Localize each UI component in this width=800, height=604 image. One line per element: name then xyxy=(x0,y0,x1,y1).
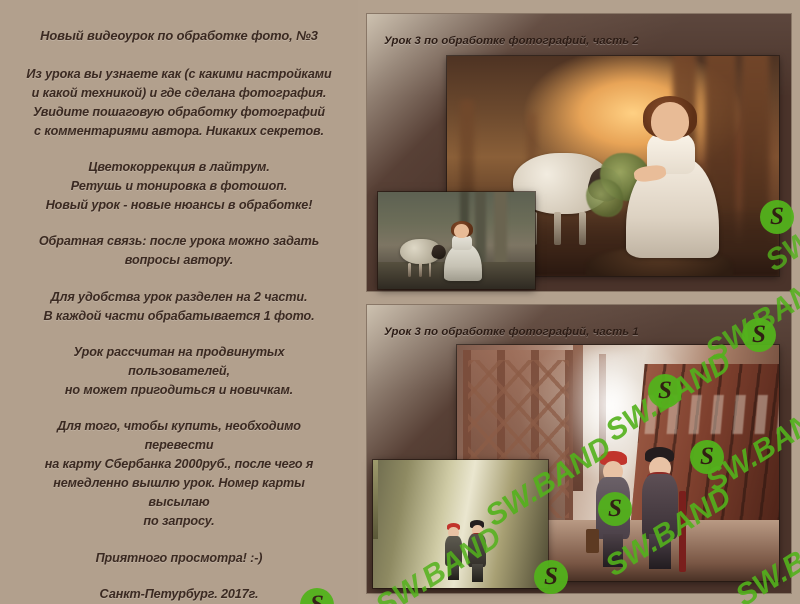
text-line: с комментариями автора. Никаких секретов… xyxy=(21,122,337,141)
text-line: Увидите пошаговую обработку фотографий xyxy=(21,103,337,122)
text-line: немедленно вышлю урок. Номер карты высыл… xyxy=(21,474,337,512)
photo-two-girls-at-train-station-original xyxy=(373,460,548,588)
text-line: на карту Сбербанка 2000руб., после чего … xyxy=(21,455,337,474)
text-line: Для того, чтобы купить, необходимо перев… xyxy=(21,417,337,455)
description-panel: Новый видеоурок по обработке фото, №3 Из… xyxy=(0,0,358,604)
text-line: вопросы автору. xyxy=(21,251,337,270)
paragraph-payment: Для того, чтобы купить, необходимо перев… xyxy=(21,417,337,531)
text-line: но может пригодиться и новичкам. xyxy=(21,381,337,400)
paragraph-feedback: Обратная связь: после урока можно задать… xyxy=(21,232,337,270)
text-line: Для удобства урок разделен на 2 части. xyxy=(21,288,337,307)
paragraph-parts: Для удобства урок разделен на 2 части. В… xyxy=(21,288,337,326)
paragraph-audience: Урок рассчитан на продвинутых пользовате… xyxy=(21,343,337,400)
panel-heading-part-2: Урок 3 по обработке фотографий, часть 2 xyxy=(384,35,639,47)
text-line: Урок рассчитан на продвинутых пользовате… xyxy=(21,343,337,381)
text-line: Цветокоррекция в лайтрум. xyxy=(21,158,337,177)
text-line: Ретушь и тонировка в фотошоп. xyxy=(21,177,337,196)
poster-title: Новый видеоурок по обработке фото, №3 xyxy=(21,26,337,45)
paragraph-enjoy: Приятного просмотра! :-) xyxy=(21,549,337,568)
photo-girl-with-sheep-original xyxy=(378,192,535,289)
paragraph-about-lesson: Из урока вы узнаете как (с какими настро… xyxy=(21,65,337,141)
text-line: Новый урок - новые нюансы в обработке! xyxy=(21,196,337,215)
paragraph-topics: Цветокоррекция в лайтрум. Ретушь и тонир… xyxy=(21,158,337,215)
photo-canvas xyxy=(373,460,548,588)
text-line: Обратная связь: после урока можно задать xyxy=(21,232,337,251)
poster-root: Новый видеоурок по обработке фото, №3 Из… xyxy=(0,0,800,604)
text-line: Из урока вы узнаете как (с какими настро… xyxy=(21,65,337,84)
lesson-part-1-panel: Урок 3 по обработке фотографий, часть 1 xyxy=(367,305,791,593)
text-line: В каждой части обрабатывается 1 фото. xyxy=(21,307,337,326)
paragraph-signature: Санкт-Петурбург. 2017г. xyxy=(21,585,337,604)
text-line: и какой техникой) и где сделана фотограф… xyxy=(21,84,337,103)
panel-heading-part-1: Урок 3 по обработке фотографий, часть 1 xyxy=(384,326,639,338)
lesson-part-2-panel: Урок 3 по обработке фотографий, часть 2 xyxy=(367,14,791,291)
photo-canvas xyxy=(378,192,535,289)
kid-black-hat xyxy=(637,444,682,569)
text-line: по запросу. xyxy=(21,512,337,531)
